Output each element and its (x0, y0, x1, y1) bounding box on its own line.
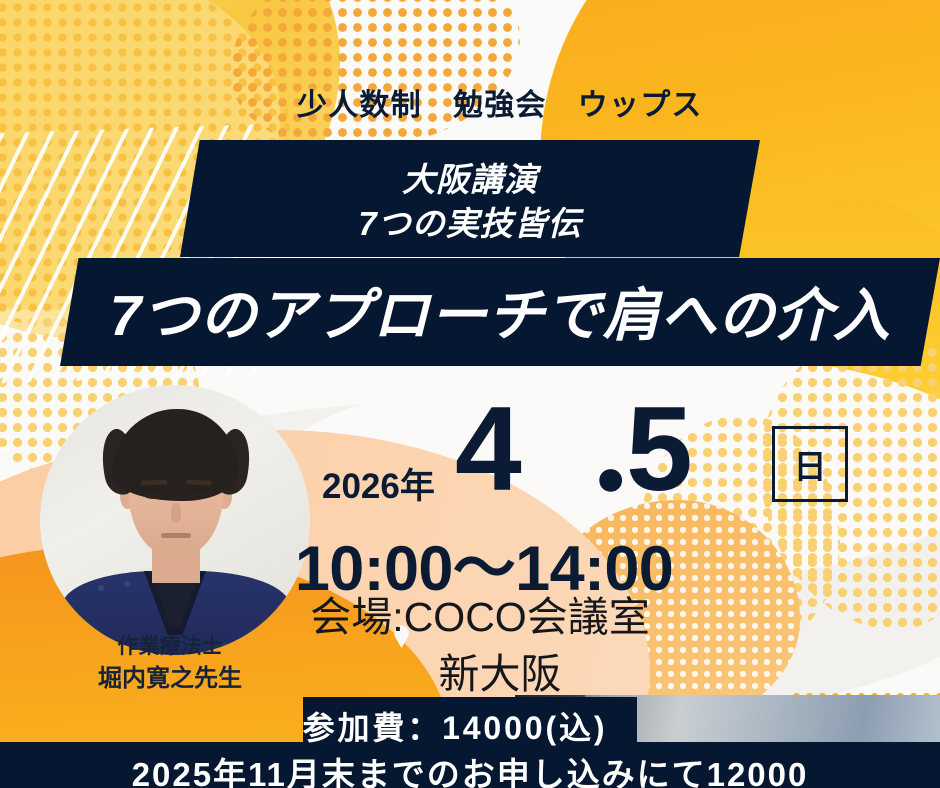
subtitle-line-2: 7つの実技皆伝 (180, 197, 760, 245)
portrait-eye-right (189, 492, 209, 499)
date-year: 2026年 (322, 458, 435, 509)
subtitle-line-1: 大阪講演 (180, 153, 760, 201)
date-day: 5 (626, 389, 693, 509)
portrait-hair (112, 409, 238, 501)
top-tagline: 少人数制 勉強会 ウップス (297, 80, 703, 124)
weekday-box: 日 (772, 426, 848, 502)
event-flyer: 少人数制 勉強会 ウップス 大阪講演 7つの実技皆伝 7つのアプローチで肩への介… (0, 0, 940, 788)
fee-regular: 参加費：14000(込) (0, 703, 940, 749)
weekday-label: 日 (794, 440, 827, 488)
date-month: 4 (455, 389, 522, 509)
halftone-dots-top-center (230, 0, 520, 150)
venue-name: 会場:COCO会議室 (0, 583, 940, 643)
venue-area: 新大阪 (0, 640, 940, 700)
portrait-eye-left (144, 492, 164, 499)
main-title: 7つのアプローチで肩への介入 (60, 270, 940, 352)
fee-earlybird: 2025年11月末までのお申し込みにて12000 (0, 748, 940, 788)
